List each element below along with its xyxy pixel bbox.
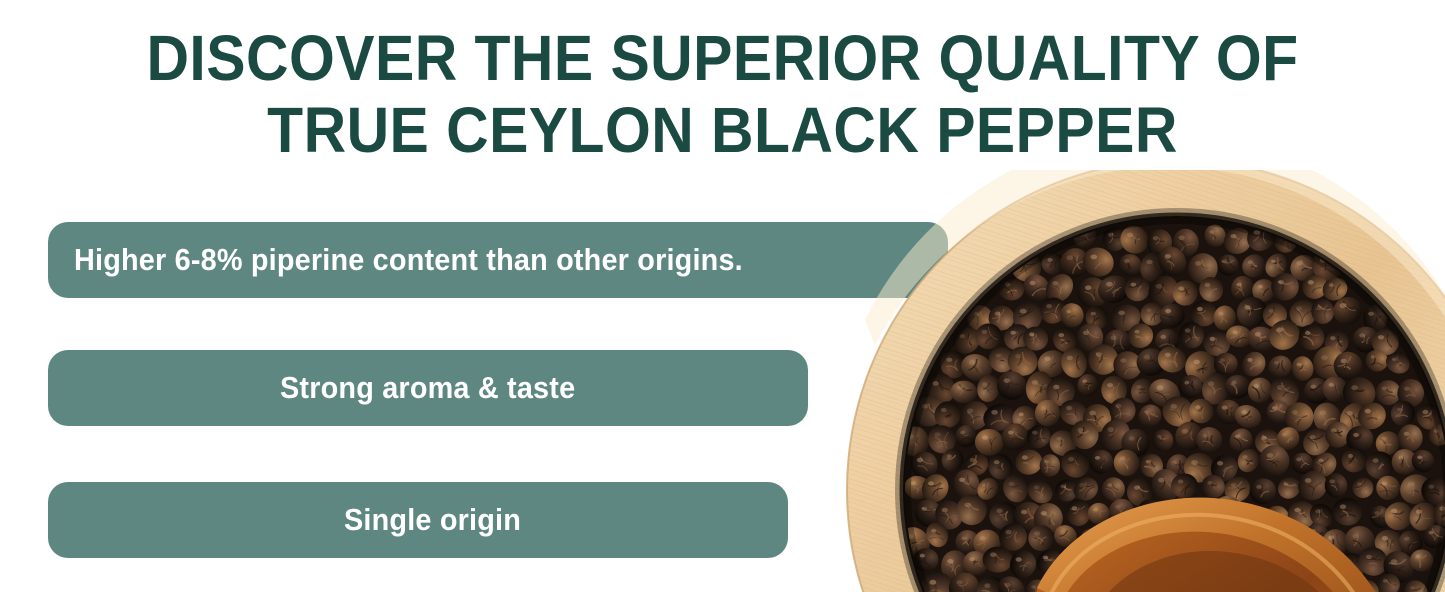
feature-pill-label: Single origin [344,502,521,538]
peppercorn-bowl-illustration [665,170,1445,592]
feature-pill-label: Strong aroma & taste [280,370,575,406]
promo-banner: DISCOVER THE SUPERIOR QUALITY OF TRUE CE… [0,0,1445,592]
page-title: DISCOVER THE SUPERIOR QUALITY OF TRUE CE… [58,22,1387,166]
headline-line-2: TRUE CEYLON BLACK PEPPER [58,94,1387,166]
feature-pill-label: Higher 6-8% piperine content than other … [74,242,743,278]
headline-line-1: DISCOVER THE SUPERIOR QUALITY OF [58,22,1387,94]
peppercorn-bowl-photo [665,170,1445,592]
